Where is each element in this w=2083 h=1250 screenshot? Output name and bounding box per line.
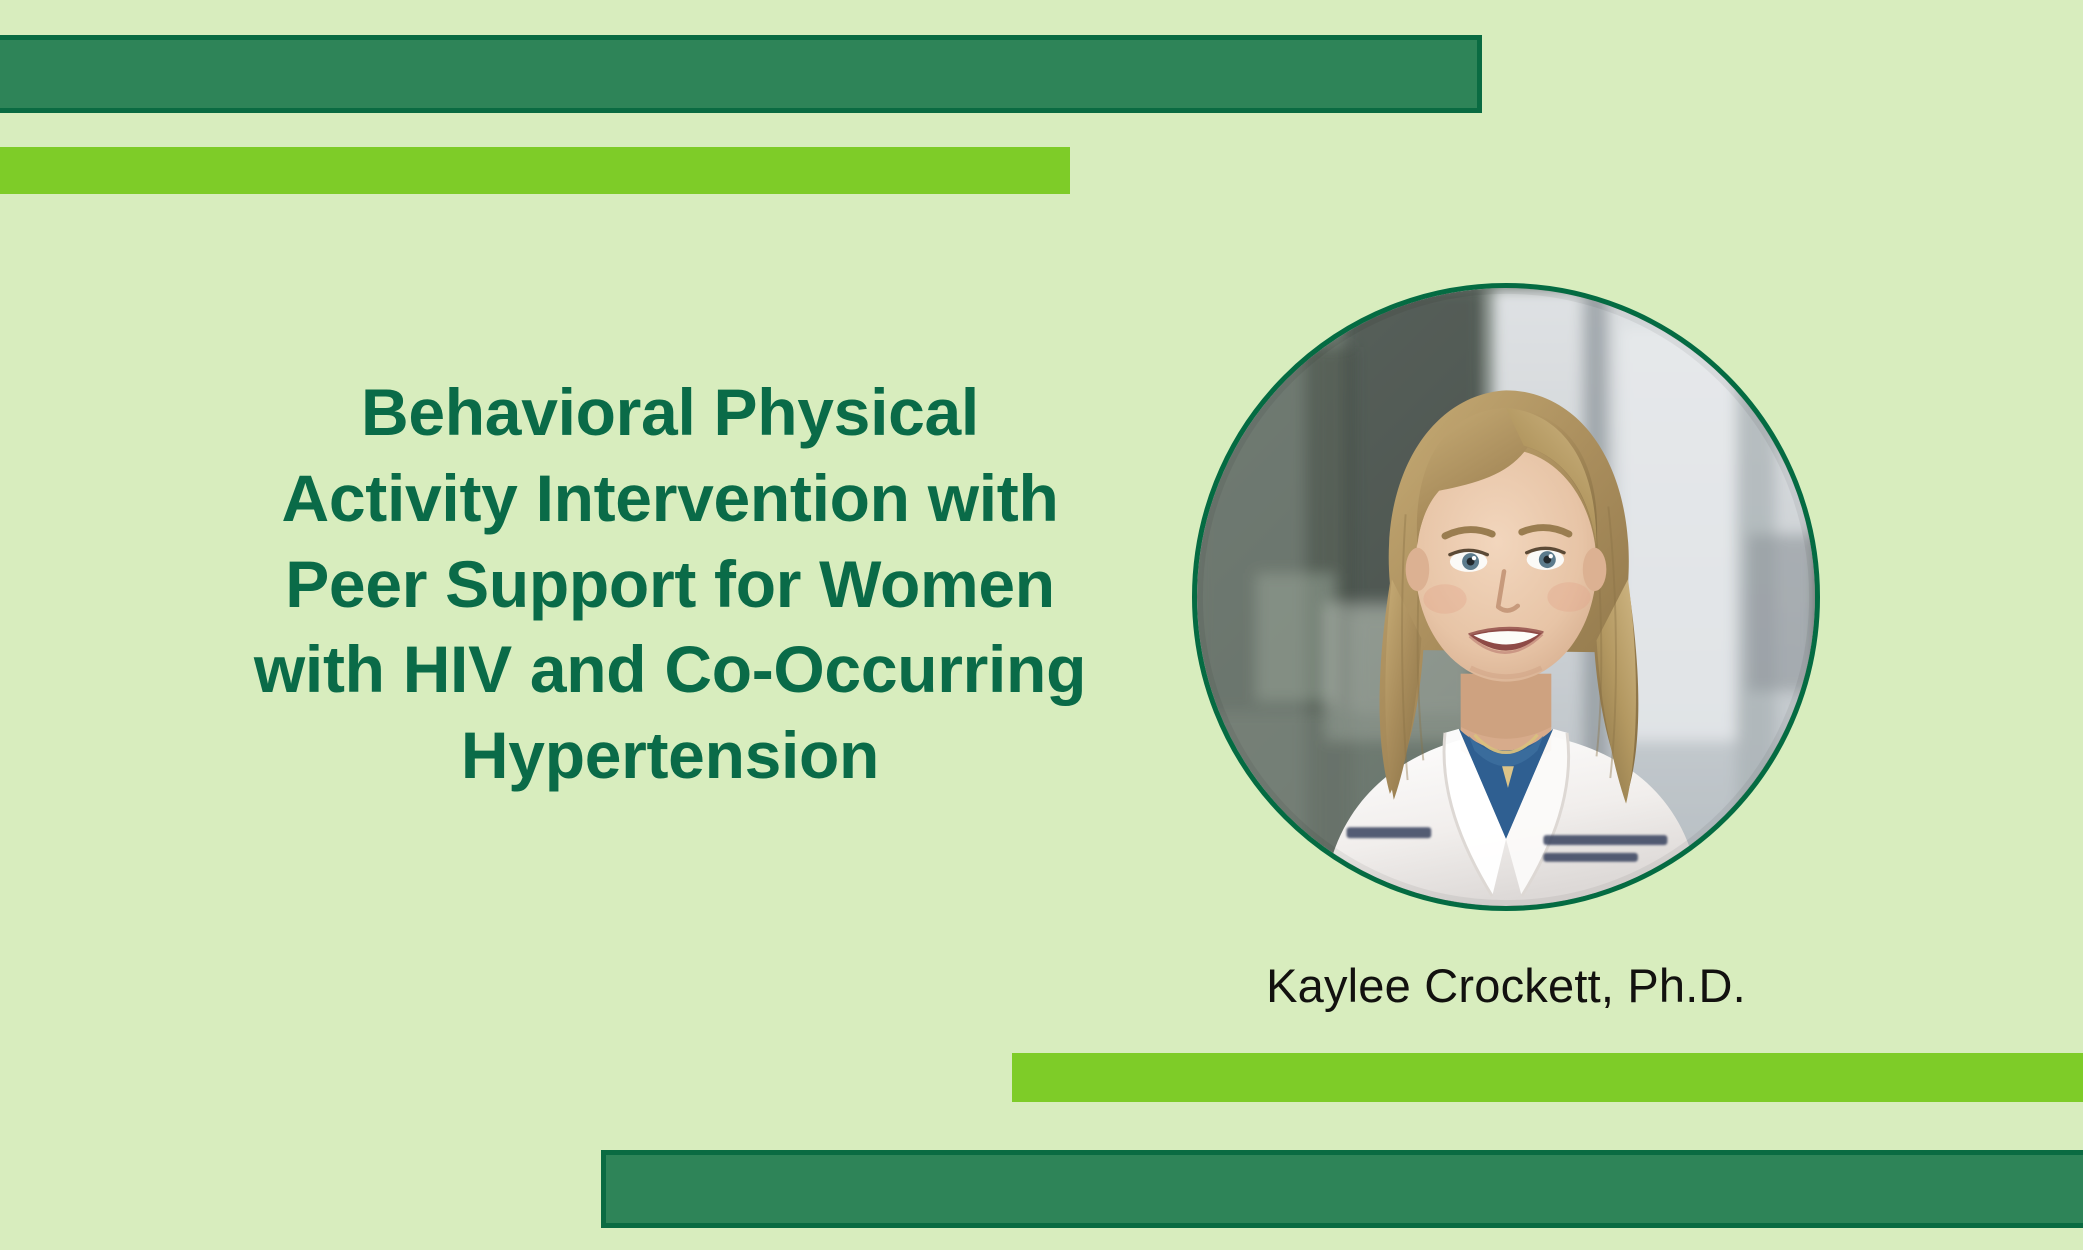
top-dark-green-bar <box>0 35 1482 113</box>
top-lime-green-bar <box>0 147 1070 194</box>
bottom-lime-green-bar <box>1012 1053 2083 1102</box>
headshot-ring-border <box>1192 283 1820 911</box>
headshot-image <box>1197 288 1815 906</box>
bottom-dark-green-bar <box>601 1150 2083 1228</box>
presentation-slide: Behavioral Physical Activity Interventio… <box>0 0 2083 1250</box>
presenter-name: Kaylee Crockett, Ph.D. <box>1192 958 1820 1014</box>
presenter-headshot <box>1192 283 1820 911</box>
page-title: Behavioral Physical Activity Interventio… <box>150 370 1190 799</box>
slide-title-block: Behavioral Physical Activity Interventio… <box>150 370 1190 799</box>
